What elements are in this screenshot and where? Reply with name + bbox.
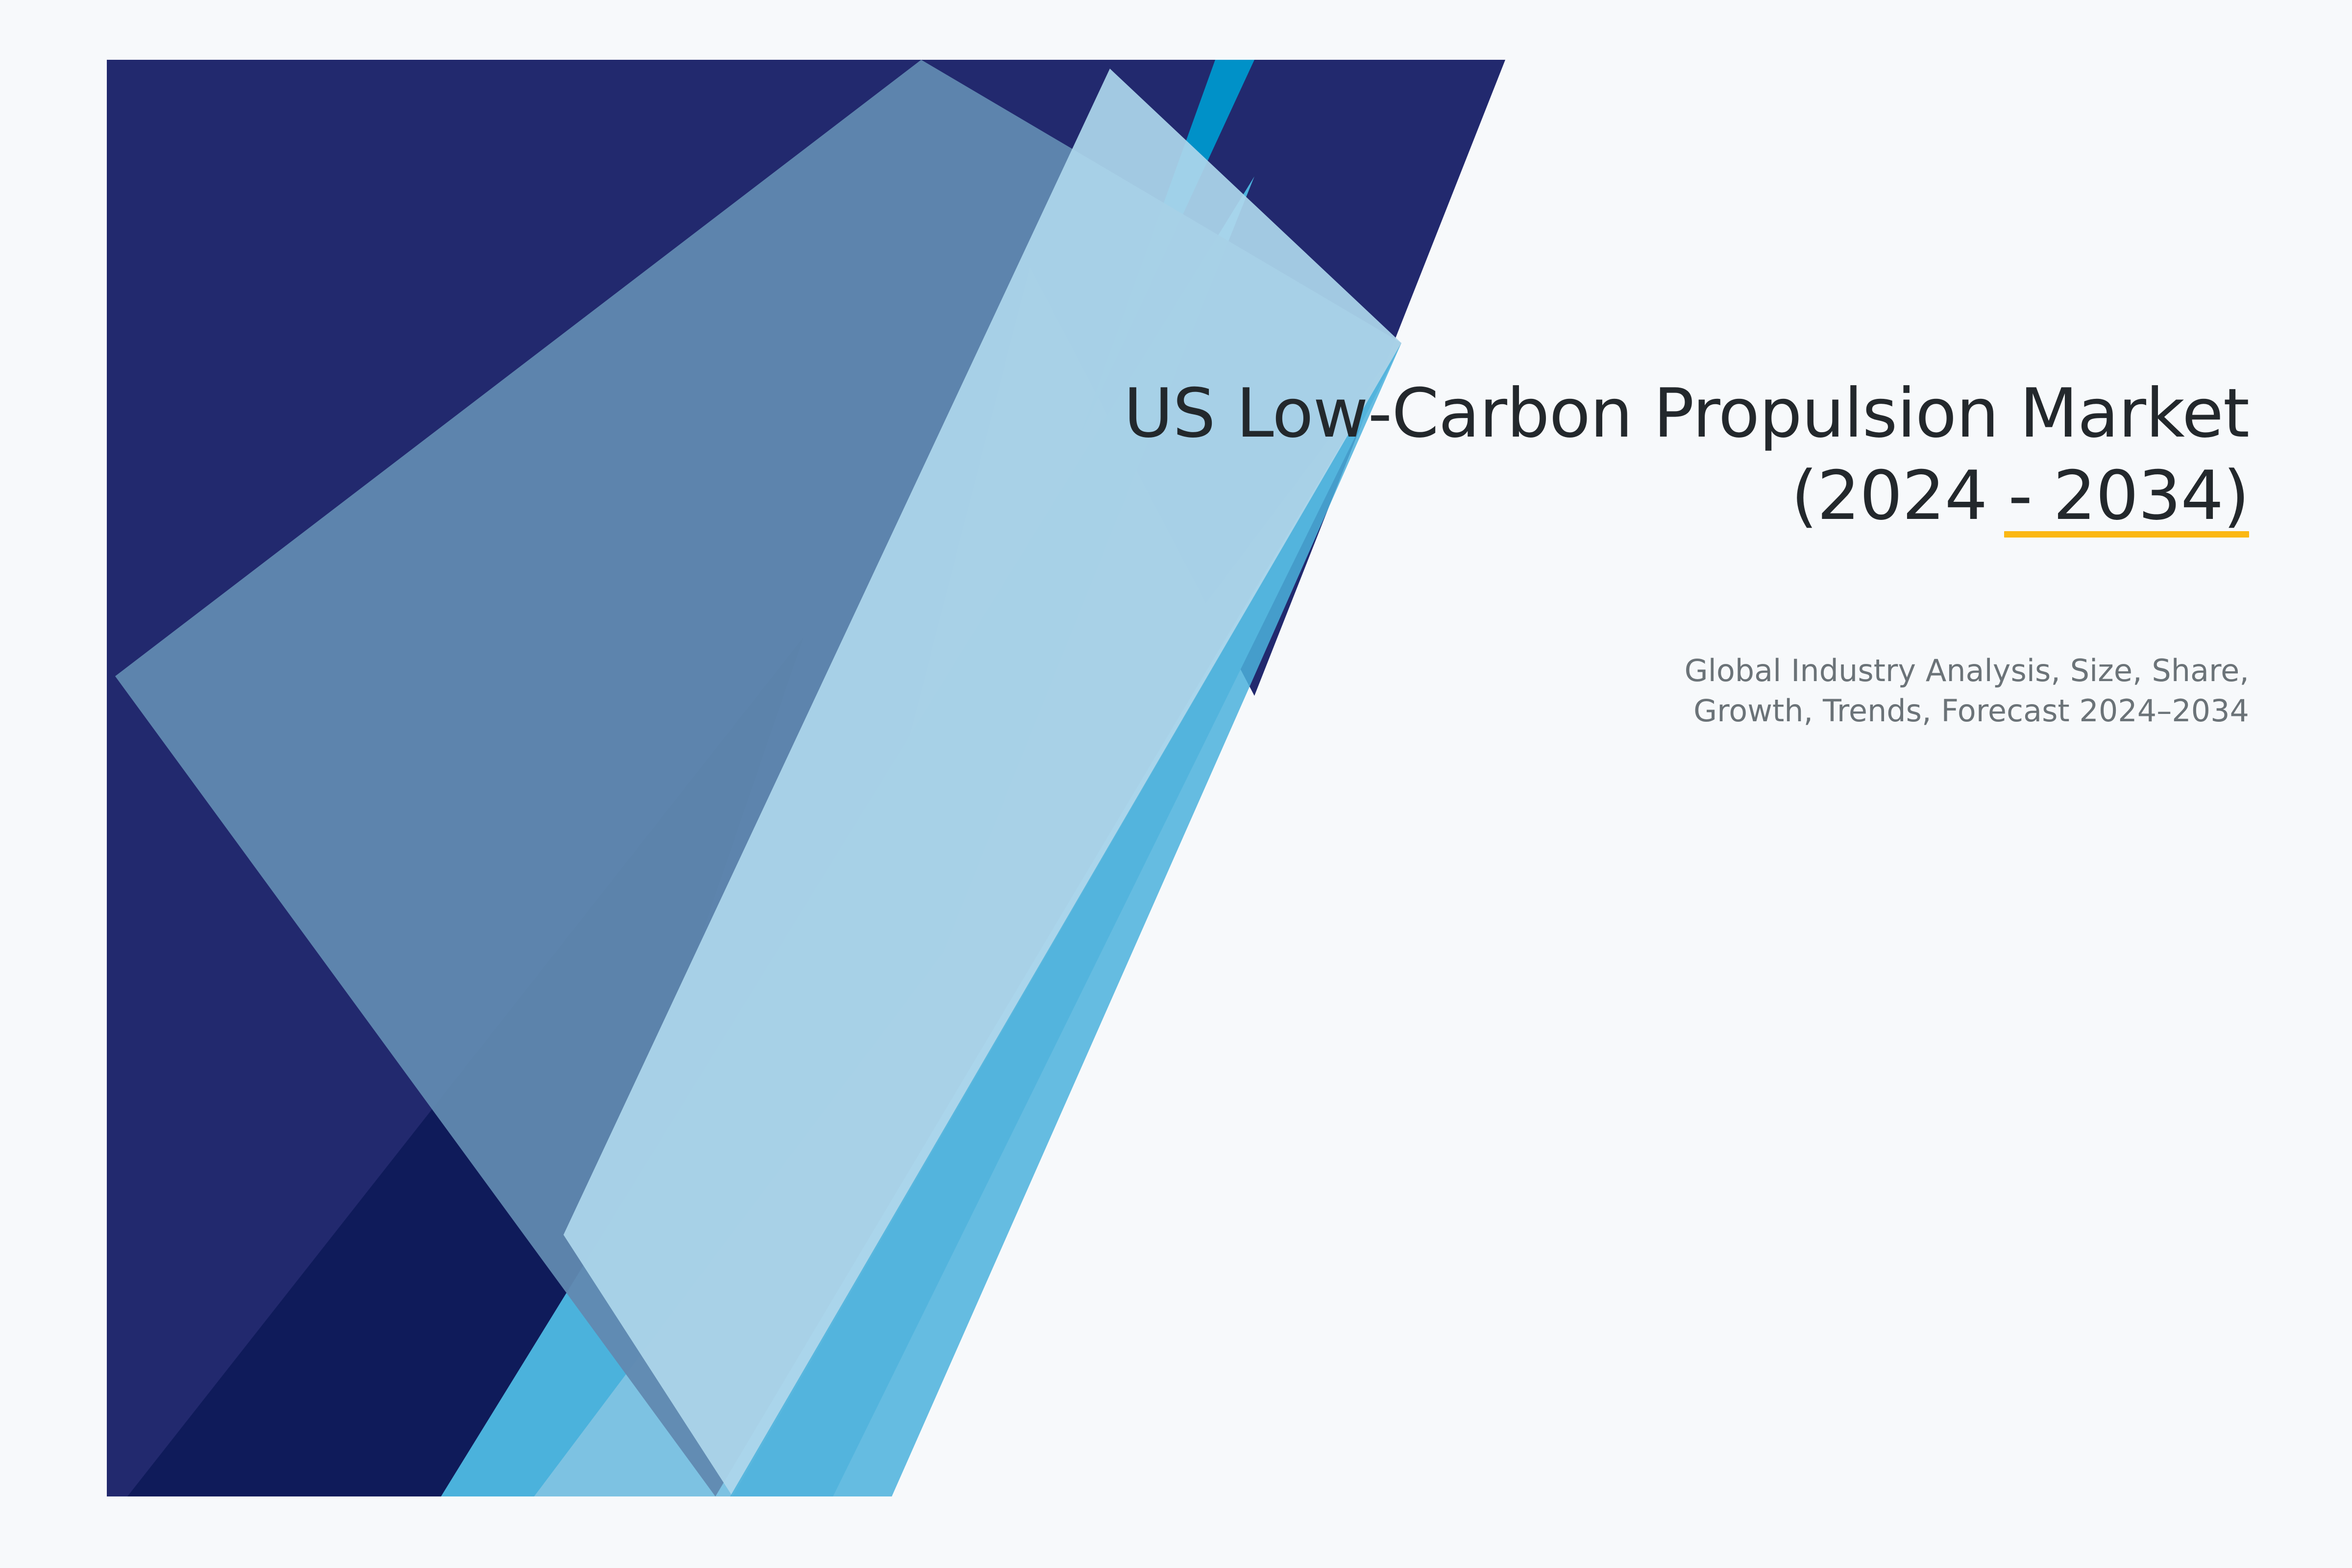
page-title-line-1: US Low-Carbon Propulsion Market bbox=[931, 372, 2249, 455]
page-title: US Low-Carbon Propulsion Market (2024 - … bbox=[931, 372, 2249, 538]
cover-title-block: US Low-Carbon Propulsion Market (2024 - … bbox=[931, 372, 2249, 538]
report-cover-page: US Low-Carbon Propulsion Market (2024 - … bbox=[0, 0, 2352, 1568]
page-subtitle-line-1: Global Industry Analysis, Size, Share, bbox=[1274, 651, 2249, 691]
accent-underline bbox=[2004, 531, 2249, 538]
abstract-geometric-cover-graphic bbox=[0, 0, 2352, 1568]
page-subtitle: Global Industry Analysis, Size, Share, G… bbox=[1274, 651, 2249, 732]
page-title-line-2: (2024 - 2034) bbox=[931, 455, 2249, 537]
page-subtitle-line-2: Growth, Trends, Forecast 2024–2034 bbox=[1274, 691, 2249, 731]
